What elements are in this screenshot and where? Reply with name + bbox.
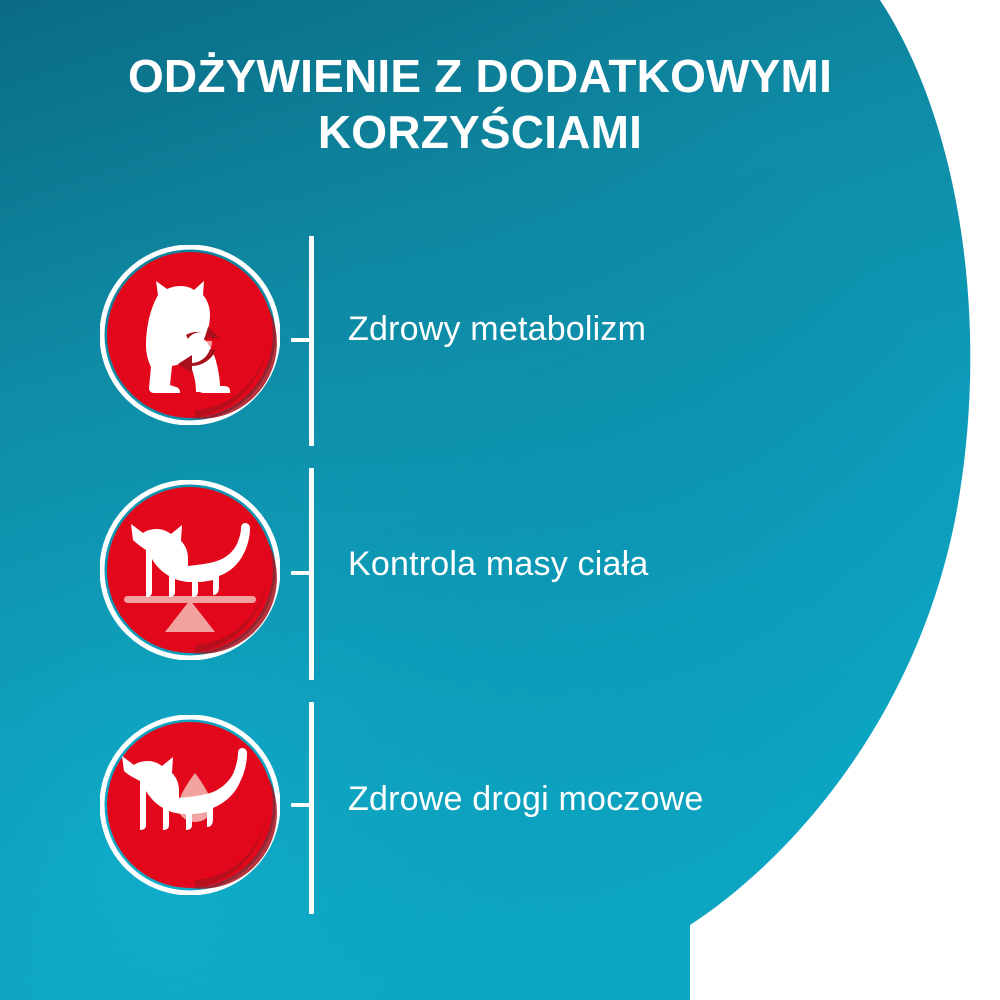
cat-urinary-droplet-icon [100,715,280,895]
cat-metabolism-icon [100,245,280,425]
cat-weight-scale-icon [100,480,280,660]
benefit-row: Zdrowy metabolizm [0,240,1000,440]
benefit-label: Kontrola masy ciała [348,545,649,584]
page-title: ODŻYWIENIE Z DODATKOWYMI KORZYŚCIAMI [60,48,900,160]
benefit-row: Zdrowe drogi moczowe [0,710,1000,910]
promo-graphic: ODŻYWIENIE Z DODATKOWYMI KORZYŚCIAMI Zdr… [0,0,1000,1000]
benefit-label: Zdrowe drogi moczowe [348,780,703,819]
benefit-row: Kontrola masy ciała [0,475,1000,675]
benefit-label: Zdrowy metabolizm [348,310,646,349]
